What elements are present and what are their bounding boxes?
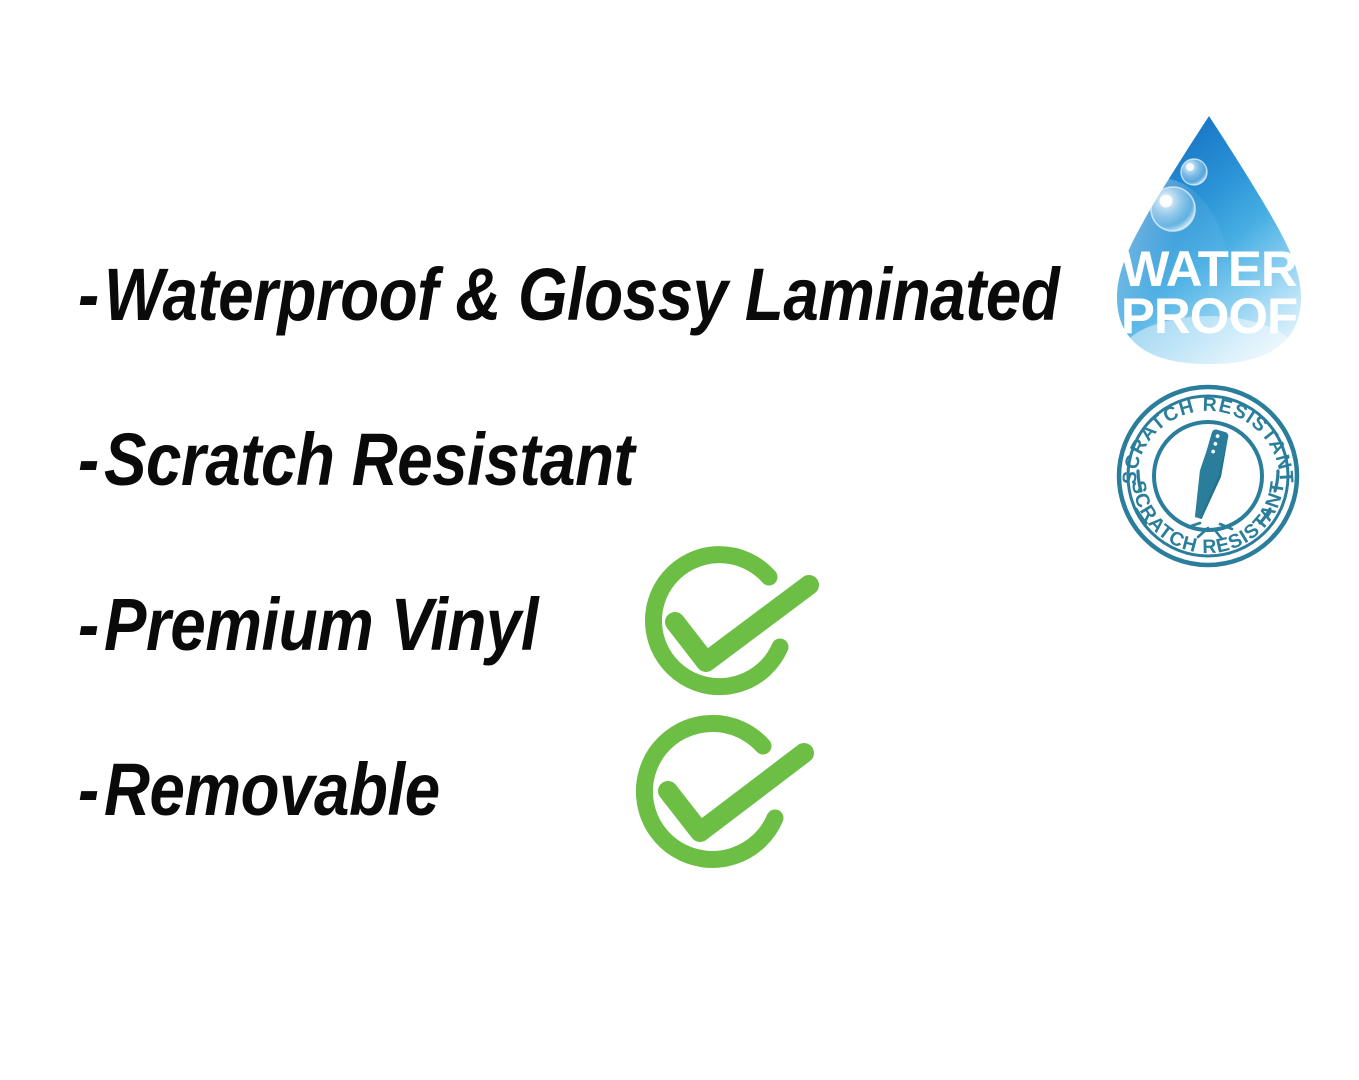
- feature-label: Removable: [104, 753, 440, 827]
- feature-item-waterproof: - Waterproof & Glossy Laminated: [78, 258, 1215, 332]
- knife-icon: [1187, 428, 1233, 521]
- feature-list: - Waterproof & Glossy Laminated - Scratc…: [0, 0, 1100, 1080]
- waterproof-line-2: PROOF: [1121, 287, 1297, 343]
- feature-item-premium-vinyl: - Premium Vinyl: [78, 588, 609, 662]
- check-mark-stroke: [668, 753, 804, 832]
- product-feature-graphic: - Waterproof & Glossy Laminated - Scratc…: [0, 0, 1359, 1080]
- check-mark-stroke: [675, 585, 809, 662]
- feature-label: Premium Vinyl: [104, 588, 538, 662]
- feature-bullet-dash: -: [78, 588, 99, 662]
- waterproof-badge: WATER PROOF: [1105, 108, 1313, 370]
- feature-item-scratch-resistant: - Scratch Resistant: [78, 423, 721, 497]
- green-check-icon: [632, 718, 827, 888]
- feature-item-removable: - Removable: [78, 753, 494, 827]
- feature-bullet-dash: -: [78, 258, 99, 332]
- bubble-small: [1181, 159, 1207, 185]
- feature-label: Waterproof & Glossy Laminated: [104, 258, 1059, 332]
- feature-bullet-dash: -: [78, 423, 99, 497]
- feature-label: Scratch Resistant: [104, 423, 634, 497]
- green-check-icon: [638, 552, 833, 717]
- scratch-resistant-badge: SCRATCH RESISTANT SCRATCH RESISTANT: [1110, 383, 1306, 569]
- feature-bullet-dash: -: [78, 753, 99, 827]
